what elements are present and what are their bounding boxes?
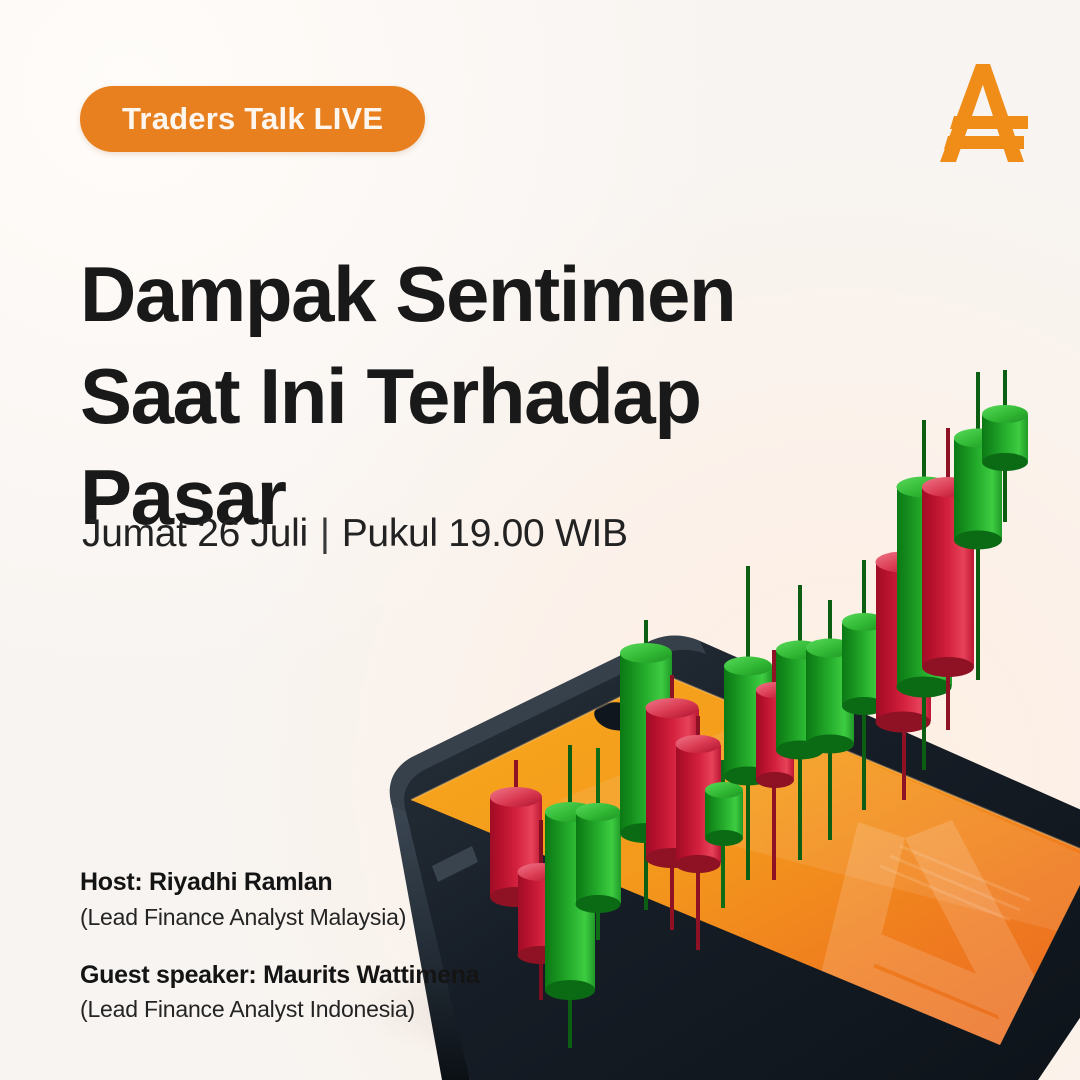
candle-16 xyxy=(922,428,974,730)
candle-11 xyxy=(776,585,824,860)
candle-9 xyxy=(724,566,772,880)
page-title: Dampak Sentimen Saat Ini Terhadap Pasar xyxy=(80,244,800,548)
candle-7 xyxy=(676,716,722,950)
candle-4 xyxy=(576,748,622,940)
headline-line-1: Dampak Sentimen xyxy=(80,244,800,345)
schedule-separator: | xyxy=(320,512,330,556)
schedule-time: Pukul 19.00 WIB xyxy=(342,512,628,555)
candle-3 xyxy=(545,745,595,1048)
live-badge-label: Traders Talk LIVE xyxy=(122,101,383,137)
credit-guest: Guest speaker: Maurits Wattimena (Lead F… xyxy=(80,959,550,1026)
candle-18 xyxy=(982,370,1028,522)
candle-13 xyxy=(842,560,886,810)
candle-14 xyxy=(876,510,932,800)
candle-15 xyxy=(897,420,953,770)
candle-17 xyxy=(954,372,1002,680)
candle-12 xyxy=(806,600,854,840)
credit-host-name: Host: Riyadhi Ramlan xyxy=(80,866,550,899)
credit-host: Host: Riyadhi Ramlan (Lead Finance Analy… xyxy=(80,866,550,933)
candle-5 xyxy=(620,620,672,910)
headline-line-2: Saat Ini Terhadap xyxy=(80,346,800,447)
candle-10 xyxy=(756,650,794,880)
ascendex-a-logo xyxy=(924,58,1032,168)
credits-block: Host: Riyadhi Ramlan (Lead Finance Analy… xyxy=(80,866,550,1025)
schedule-date: Jumat 26 Juli xyxy=(82,512,308,555)
candle-8 xyxy=(705,760,743,908)
live-badge: Traders Talk LIVE xyxy=(80,86,425,152)
promo-poster: Traders Talk LIVE Dampak Sentimen Saat I… xyxy=(0,0,1080,1080)
credit-host-role: (Lead Finance Analyst Malaysia) xyxy=(80,902,550,933)
credit-guest-role: (Lead Finance Analyst Indonesia) xyxy=(80,994,550,1025)
schedule-line: Jumat 26 Juli|Pukul 19.00 WIB xyxy=(82,512,628,556)
candle-6 xyxy=(646,675,700,930)
credit-guest-name: Guest speaker: Maurits Wattimena xyxy=(80,959,550,992)
